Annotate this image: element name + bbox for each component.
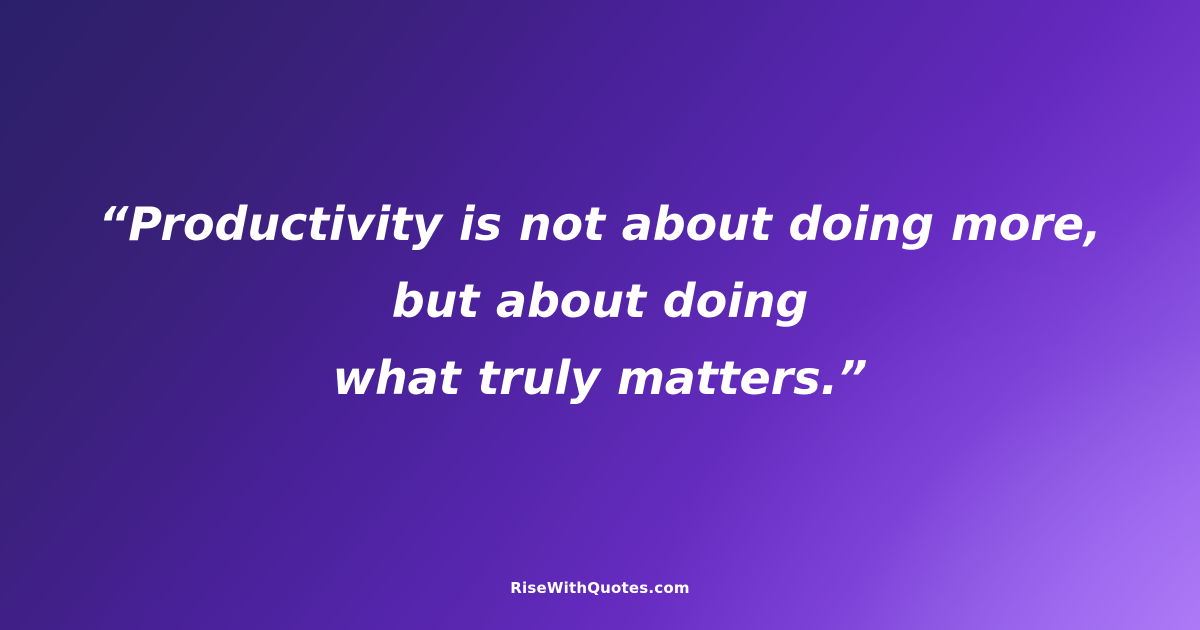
quote-text: “Productivity is not about doing more, b… — [96, 186, 1104, 417]
quote-block: “Productivity is not about doing more, b… — [0, 186, 1200, 417]
site-credit: RiseWithQuotes.com — [0, 579, 1200, 597]
quote-card: “Productivity is not about doing more, b… — [0, 0, 1200, 630]
